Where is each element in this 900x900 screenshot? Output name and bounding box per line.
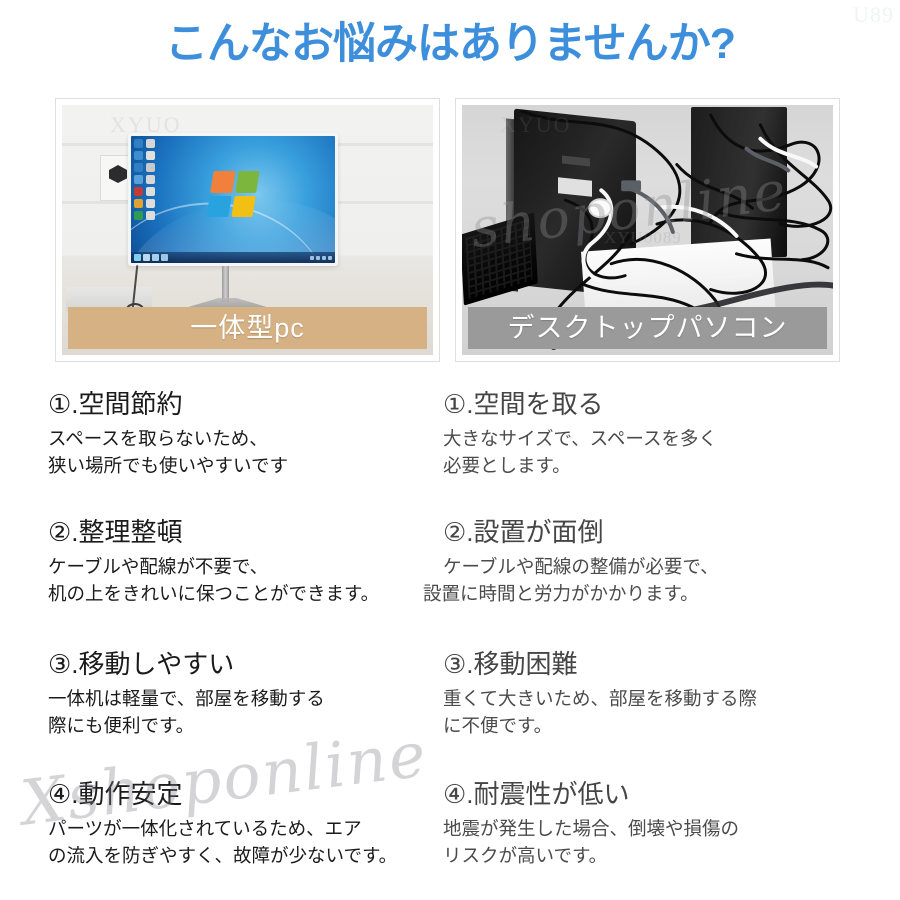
comparison-columns: ①.空間節約 スペースを取らないため、 狭い場所でも使いやすいです ②.整理整頓… [0,386,900,896]
page-title: こんなお悩みはありませんか? [165,22,735,67]
demerit-heading-1: ①.空間を取る [443,388,717,422]
demerit-body-4-line-2: リスクが高いです。 [443,842,739,869]
merit-body-4-line-1: パーツが一体化されているため、エア [48,815,397,842]
demerit-body-1-line-2: 必要とします。 [443,452,717,479]
demerit-item-2: ②.設置が面倒 ケーブルや配線の整備が必要で、 設置に時間と労力がかかります。 [443,516,719,607]
caption-label-desktop: デスクトップパソコン [508,315,788,342]
merit-body-4-line-2: の流入を防ぎやすく、故障が少ないです。 [48,842,397,869]
photo-comparison-row: 一体型pc [0,98,900,368]
photo-right-inner: デスクトップパソコン [462,105,833,355]
demerit-body-4-line-1: 地震が発生した場合、倒壊や損傷の [443,815,739,842]
merit-body-2-line-2: 机の上をきれいに保つことができます。 [48,580,379,607]
merit-heading-3: ③.移動しやすい [48,648,325,682]
merit-body-3: 一体机は軽量で、部屋を移動する 際にも便利です。 [48,685,325,739]
demerit-heading-4: ④.耐震性が低い [443,778,739,812]
windows-taskbar [131,252,335,263]
desktop-icons-group [134,139,158,220]
merit-body-2-line-1: ケーブルや配線が不要で、 [48,553,379,580]
merit-heading-2: ②.整理整頓 [48,516,379,550]
photo-card-desktop: デスクトップパソコン [455,98,840,362]
page-title-container: こんなお悩みはありませんか? [0,22,900,67]
demerit-item-4: ④.耐震性が低い 地震が発生した場合、倒壊や損傷の リスクが高いです。 [443,778,739,869]
photo-card-all-in-one: 一体型pc [55,98,440,362]
merit-body-3-line-2: 際にも便利です。 [48,712,325,739]
windows-logo-icon [206,171,259,217]
merit-body-3-line-1: 一体机は軽量で、部屋を移動する [48,685,325,712]
merit-body-2: ケーブルや配線が不要で、 机の上をきれいに保つことができます。 [48,553,379,607]
demerit-heading-3: ③.移動困難 [443,648,757,682]
demerit-body-1: 大きなサイズで、スペースを多く 必要とします。 [443,425,717,479]
demerit-body-3-line-1: 重くて大きいため、部屋を移動する際 [443,685,757,712]
demerit-body-1-line-1: 大きなサイズで、スペースを多く [443,425,717,452]
merit-body-1: スペースを取らないため、 狭い場所でも使いやすいです [48,425,288,479]
merit-item-1: ①.空間節約 スペースを取らないため、 狭い場所でも使いやすいです [48,388,288,479]
demerit-body-2: ケーブルや配線の整備が必要で、 設置に時間と労力がかかります。 [443,553,719,607]
demerit-body-3-line-2: に不便です。 [443,712,757,739]
caption-label-all-in-one: 一体型pc [190,315,305,342]
demerit-body-4: 地震が発生した場合、倒壊や損傷の リスクが高いです。 [443,815,739,869]
demerit-item-3: ③.移動困難 重くて大きいため、部屋を移動する際 に不便です。 [443,648,757,739]
merit-body-1-line-2: 狭い場所でも使いやすいです [48,452,288,479]
monitor-screen [131,136,335,263]
caption-bar-desktop: デスクトップパソコン [468,307,827,349]
demerit-body-2-line-1: ケーブルや配線の整備が必要で、 [443,553,719,580]
caption-bar-all-in-one: 一体型pc [68,307,427,349]
demerit-heading-2: ②.設置が面倒 [443,516,719,550]
demerit-body-3: 重くて大きいため、部屋を移動する際 に不便です。 [443,685,757,739]
all-in-one-monitor [128,133,338,266]
merit-item-3: ③.移動しやすい 一体机は軽量で、部屋を移動する 際にも便利です。 [48,648,325,739]
demerit-item-1: ①.空間を取る 大きなサイズで、スペースを多く 必要とします。 [443,388,717,479]
infographic-page: こんなお悩みはありませんか? U89 XYUO XYUO [0,0,900,900]
merit-item-4: ④.動作安定 パーツが一体化されているため、エア の流入を防ぎやすく、故障が少な… [48,778,397,869]
photo-left-inner: 一体型pc [62,105,433,355]
merit-heading-1: ①.空間節約 [48,388,288,422]
merit-body-4: パーツが一体化されているため、エア の流入を防ぎやすく、故障が少ないです。 [48,815,397,869]
monitor-neck [222,266,229,302]
merit-heading-4: ④.動作安定 [48,778,397,812]
merit-body-1-line-1: スペースを取らないため、 [48,425,288,452]
merit-item-2: ②.整理整頓 ケーブルや配線が不要で、 机の上をきれいに保つことができます。 [48,516,379,607]
demerit-body-2-line-2: 設置に時間と労力がかかります。 [423,580,719,607]
